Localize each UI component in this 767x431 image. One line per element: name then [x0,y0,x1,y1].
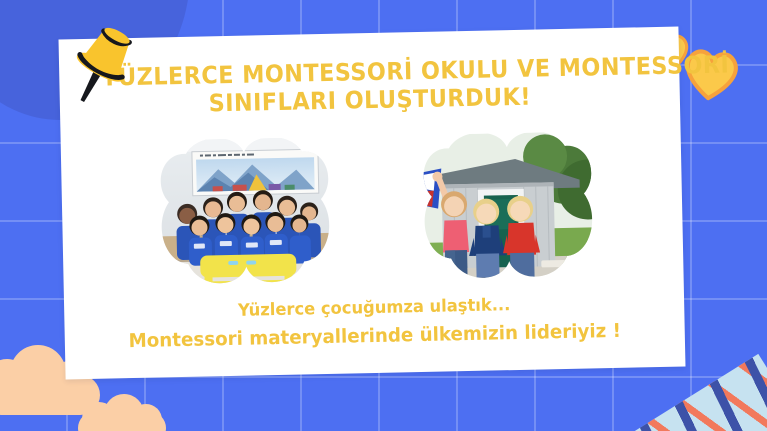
photo-outdoor-children [419,131,598,301]
poster-title: YÜZLERCE MONTESSORİ OKULU VE MONTESSORİ … [59,53,680,122]
poster-canvas: YÜZLERCE MONTESSORİ OKULU VE MONTESSORİ … [0,0,767,431]
pushpin-icon [56,18,148,110]
poster-captions: Yüzlerce çocuğumza ulaştık... Montessori… [64,289,685,358]
cloud-small-icon [78,392,166,431]
poster-card: YÜZLERCE MONTESSORİ OKULU VE MONTESSORİ … [59,27,686,380]
photo-classroom-children [156,137,335,307]
